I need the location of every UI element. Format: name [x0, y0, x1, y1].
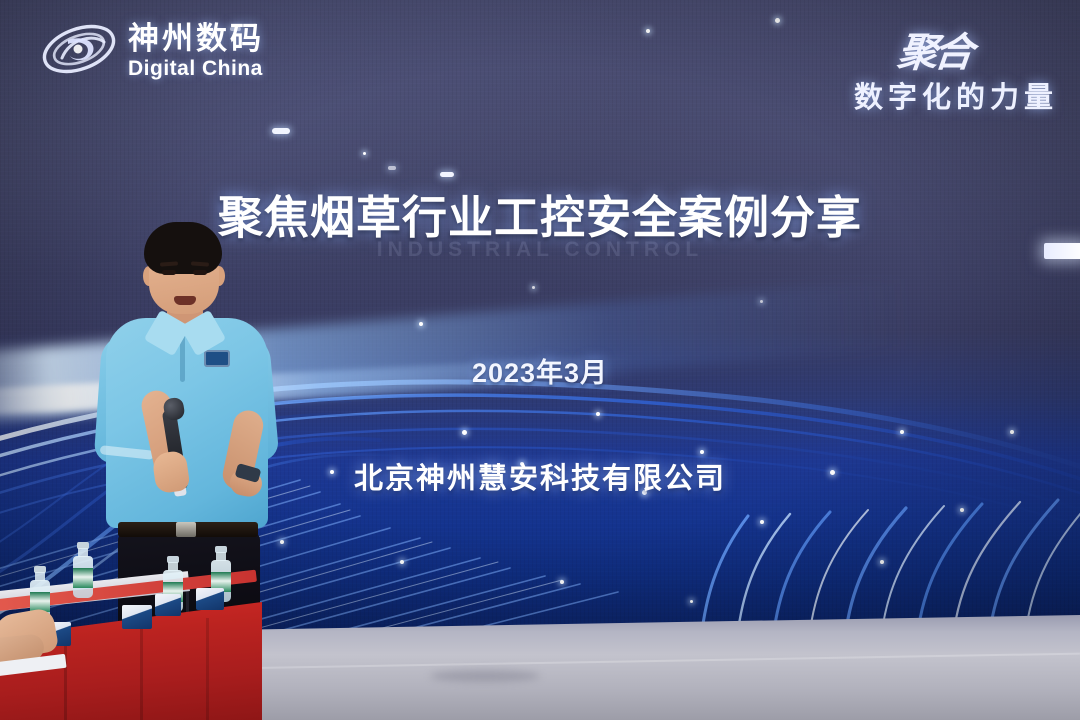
slogan-calligraphy: 聚合 [895, 20, 973, 78]
particle-dot [363, 152, 366, 155]
cloth-fold [140, 628, 143, 720]
particle-dot [760, 520, 764, 524]
company-emblem-patch [204, 350, 230, 367]
particle-dot [880, 560, 884, 564]
particle-dot [700, 450, 704, 454]
speaker-hair [144, 222, 222, 274]
particle-dash [388, 166, 396, 170]
speaker-mouth [174, 296, 196, 305]
name-tent-card [155, 594, 181, 616]
brand-name-cn: 神州数码 [128, 23, 264, 54]
particle-dot [532, 286, 535, 289]
particle-dot [462, 430, 467, 435]
name-tent-card [196, 588, 224, 610]
event-slogan: 聚合 数字化的力量 [854, 20, 1058, 116]
particle-dot [690, 600, 693, 603]
particle-dot [419, 322, 423, 326]
particle-dash [272, 128, 290, 134]
name-tent-card [122, 605, 152, 629]
brand-name-en: Digital China [128, 58, 264, 79]
particle-dot [1010, 430, 1014, 434]
cloth-fold [64, 640, 67, 720]
speaker-eye-right [193, 270, 207, 275]
belt-buckle [176, 522, 196, 537]
particle-dot [560, 580, 564, 584]
particle-dash [440, 172, 454, 177]
slogan-subtitle: 数字化的力量 [854, 74, 1058, 116]
particle-dot [596, 412, 600, 416]
speaker-eye-left [162, 270, 176, 275]
brand-logo: 神州数码 Digital China [40, 18, 264, 80]
white-led-light-strip [1044, 243, 1080, 259]
floor-scuff [430, 670, 540, 682]
particle-dot [646, 29, 650, 33]
particle-dot [960, 508, 964, 512]
particle-dot [900, 430, 904, 434]
particle-dot [760, 300, 763, 303]
particle-dot [775, 18, 780, 23]
particle-dot [400, 560, 404, 564]
conference-photo: 神州数码 Digital China 聚合 数字化的力量 聚焦烟草行业工控安全案… [0, 0, 1080, 720]
swirl-spiral-logo-icon [40, 18, 118, 80]
cloth-fold [206, 618, 209, 720]
